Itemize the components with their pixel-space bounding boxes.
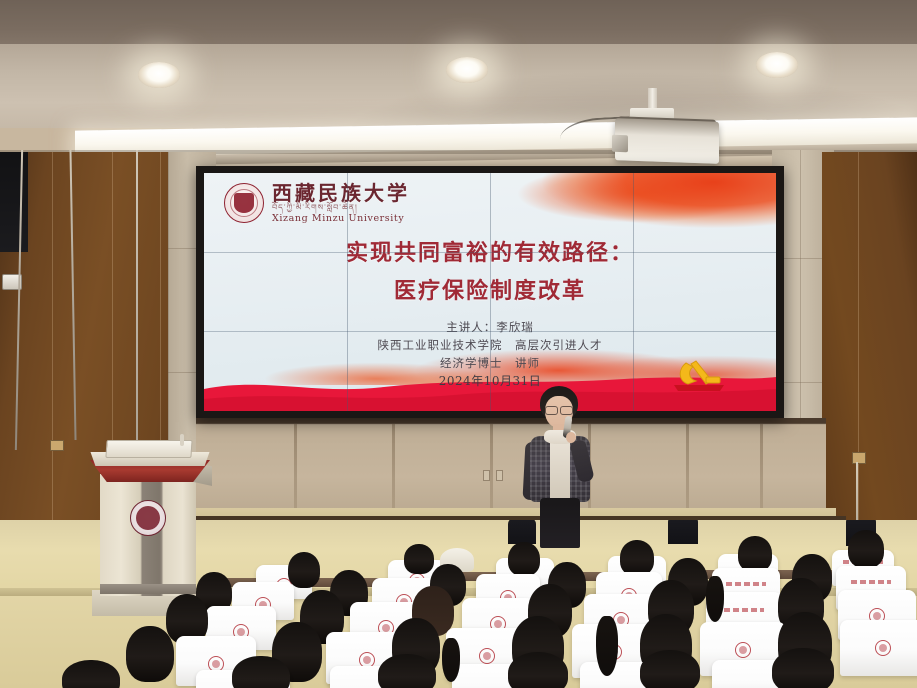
glasses-icon <box>545 406 573 413</box>
video-wall-seam-v1 <box>347 173 348 411</box>
audience-head <box>738 536 772 572</box>
downlight-right-icon <box>756 52 798 78</box>
standing-person <box>668 520 698 544</box>
audience-ponytail <box>442 638 460 682</box>
slide-university-header: 西藏民族大学 བོད་ཀྱི་མི་རིགས་སློབ་ཆེན། Xizang … <box>224 183 410 223</box>
audience-ponytail <box>706 576 724 622</box>
audience-head <box>508 652 568 688</box>
lecture-hall-photo: 西藏民族大学 བོད་ཀྱི་མི་རིགས་སློབ་ཆེན། Xizang … <box>0 0 917 688</box>
projector-lens-icon <box>612 135 628 153</box>
video-wall-seam-h2 <box>204 331 776 332</box>
video-wall-seam-v3 <box>633 173 634 411</box>
audience-head <box>772 648 834 688</box>
video-wall-display[interactable]: 西藏民族大学 བོད་ཀྱི་མི་རིགས་སློབ་ཆེན། Xizang … <box>196 166 784 418</box>
video-wall-seam-h1 <box>204 252 776 253</box>
video-wall-seam-v2 <box>490 173 491 411</box>
audience-head <box>126 626 174 682</box>
audience-head <box>640 650 700 688</box>
audience-head <box>620 540 654 576</box>
wall-monitor-screen <box>0 152 28 252</box>
presenter-hand <box>566 432 576 443</box>
audience-head <box>62 660 120 688</box>
presenter-inner-top <box>550 442 570 504</box>
standing-person <box>508 520 536 544</box>
slide-surface: 西藏民族大学 བོད་ཀྱི་མི་རིགས་སློབ་ཆེན། Xizang … <box>204 173 776 411</box>
audience-head <box>848 530 884 568</box>
panel-latch-right[interactable] <box>496 470 503 481</box>
projector-pole-mount <box>648 88 657 110</box>
ceiling-upper-soffit <box>0 0 917 48</box>
wall-outlet[interactable] <box>50 440 64 451</box>
audience-head <box>508 542 540 576</box>
university-crest-icon <box>224 183 264 223</box>
wall-outlet-right[interactable] <box>852 452 866 464</box>
university-name-tibetan: བོད་ཀྱི་མི་རིགས་སློབ་ཆེན། <box>272 204 410 212</box>
podium-microphone-icon <box>180 434 184 446</box>
mic-stand-pole-2 <box>69 150 76 440</box>
university-name-cn: 西藏民族大学 <box>272 183 410 203</box>
audience-ponytail <box>596 616 618 676</box>
ceiling-projector <box>615 118 719 164</box>
audience-head <box>404 544 434 574</box>
audience-seating <box>0 520 917 688</box>
audience-head <box>378 654 436 688</box>
downlight-left-icon <box>138 62 180 88</box>
panel-latch-left[interactable] <box>483 470 490 481</box>
list-item[interactable] <box>840 620 917 676</box>
audience-head <box>288 552 320 588</box>
university-name-en: Xizang Minzu University <box>272 214 410 224</box>
downlight-center-icon <box>446 57 488 83</box>
audience-head <box>232 656 290 688</box>
